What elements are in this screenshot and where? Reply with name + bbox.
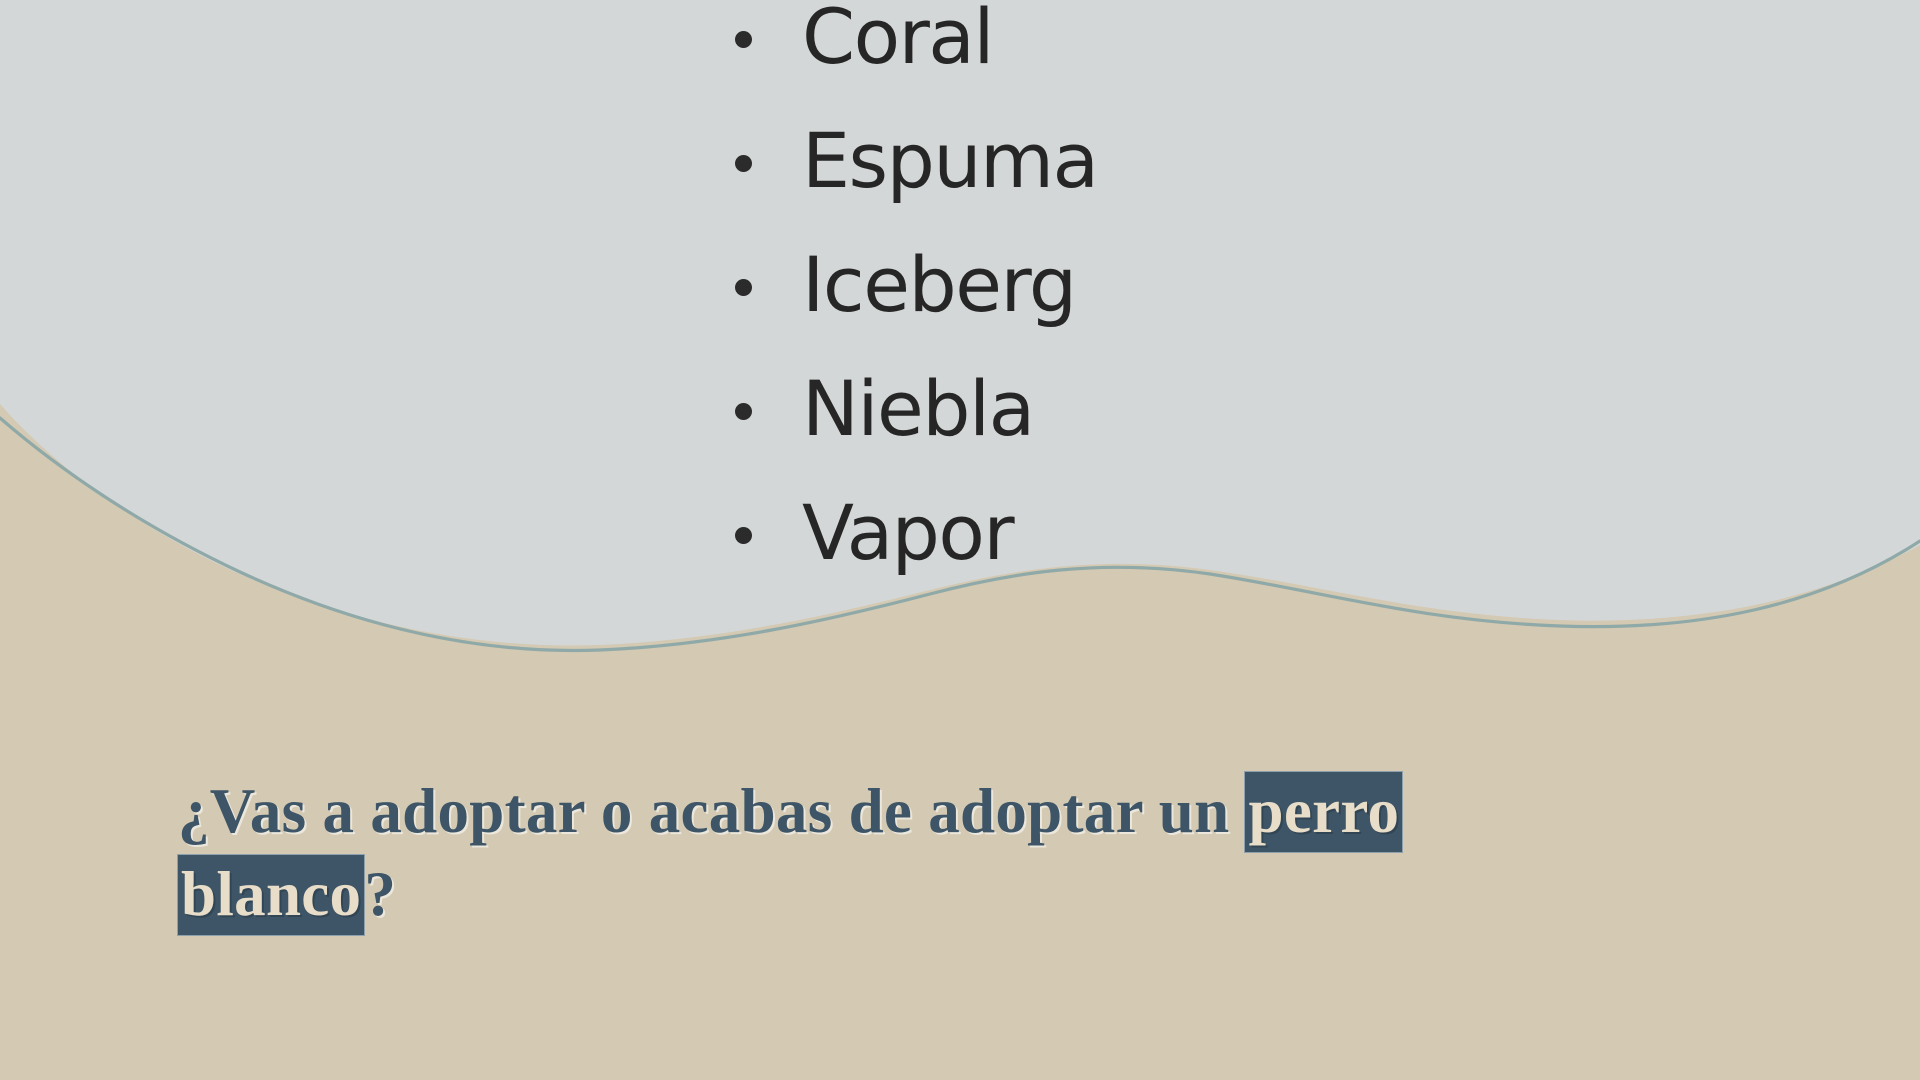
- list-item-label: Iceberg: [802, 247, 1076, 323]
- list-item: Niebla: [735, 364, 1034, 454]
- highlight-perro: perro: [1245, 772, 1402, 852]
- list-item: Coral: [735, 0, 993, 82]
- list-item-label: Vapor: [802, 495, 1013, 571]
- list-item: Iceberg: [735, 240, 1076, 330]
- list-item-label: Coral: [802, 0, 993, 75]
- list-item-label: Niebla: [802, 371, 1034, 447]
- slide-canvas: Coral Espuma Iceberg Niebla Vapor ¿Vas a…: [0, 0, 1920, 1080]
- bullet-dot-icon: [735, 279, 752, 296]
- question-line1-prefix: ¿Vas a adoptar o acabas de adoptar un: [178, 776, 1245, 846]
- highlight-blanco: blanco: [178, 855, 364, 935]
- list-item: Vapor: [735, 488, 1013, 578]
- bullet-dot-icon: [735, 155, 752, 172]
- question-line-1: ¿Vas a adoptar o acabas de adoptar un pe…: [178, 770, 1798, 853]
- question-text: ¿Vas a adoptar o acabas de adoptar un pe…: [178, 770, 1798, 936]
- list-item: Espuma: [735, 116, 1098, 206]
- bullet-dot-icon: [735, 31, 752, 48]
- bullet-dot-icon: [735, 527, 752, 544]
- bullet-dot-icon: [735, 403, 752, 420]
- question-mark: ?: [364, 859, 396, 929]
- bullet-list: Coral Espuma Iceberg Niebla Vapor: [0, 0, 1920, 620]
- question-line-2: blanco?: [178, 853, 1798, 936]
- list-item-label: Espuma: [802, 123, 1098, 199]
